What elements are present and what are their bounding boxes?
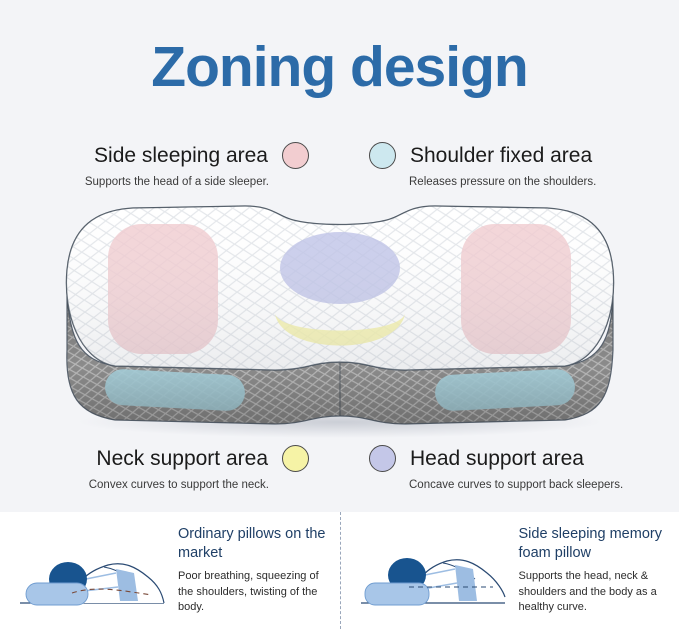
pillow-top-surface bbox=[45, 200, 635, 380]
legend-title-side-sleeping-area: Side sleeping area bbox=[94, 144, 268, 168]
legend-row-top: Side sleeping area Supports the head of … bbox=[0, 142, 679, 188]
legend-item-side-sleeping-area: Side sleeping area Supports the head of … bbox=[0, 142, 339, 188]
comparison-title-ordinary: Ordinary pillows on the market bbox=[178, 525, 332, 563]
comparison-panel: Ordinary pillows on the market Poor brea… bbox=[0, 512, 679, 629]
legend-subtitle-neck-support-area: Convex curves to support the neck. bbox=[0, 479, 309, 491]
legend-subtitle-head-support-area: Concave curves to support back sleepers. bbox=[369, 479, 678, 491]
circle-swatch-purple-icon bbox=[369, 445, 396, 472]
circle-swatch-pink-icon bbox=[282, 142, 309, 169]
legend-item-shoulder-fixed-area: Shoulder fixed area Releases pressure on… bbox=[339, 142, 678, 188]
legend-title-neck-support-area: Neck support area bbox=[96, 447, 268, 471]
legend-item-head-support-area: Head support area Concave curves to supp… bbox=[339, 445, 678, 491]
legend-head: Neck support area bbox=[0, 445, 309, 472]
legend-title-head-support-area: Head support area bbox=[410, 447, 584, 471]
pillow-illustration bbox=[45, 200, 635, 440]
legend-head: Head support area bbox=[369, 445, 678, 472]
memory-foam-pillow-sleeper-illustration bbox=[353, 521, 513, 621]
comparison-memory-foam-pillow: Side sleeping memory foam pillow Support… bbox=[340, 512, 679, 629]
legend-row-bottom: Neck support area Convex curves to suppo… bbox=[0, 445, 679, 491]
legend-subtitle-side-sleeping-area: Supports the head of a side sleeper. bbox=[0, 176, 309, 188]
comparison-text: Ordinary pillows on the market Poor brea… bbox=[172, 525, 340, 616]
comparison-text: Side sleeping memory foam pillow Support… bbox=[513, 525, 679, 616]
comparison-subtitle-memory-foam: Supports the head, neck & shoulders and … bbox=[519, 569, 672, 616]
page-title: Zoning design bbox=[0, 38, 679, 98]
legend-title-shoulder-fixed-area: Shoulder fixed area bbox=[410, 144, 592, 168]
ordinary-pillow-sleeper-illustration bbox=[12, 521, 172, 621]
pillow-shape bbox=[365, 583, 429, 605]
comparison-title-memory-foam: Side sleeping memory foam pillow bbox=[519, 525, 672, 563]
legend-subtitle-shoulder-fixed-area: Releases pressure on the shoulders. bbox=[369, 176, 678, 188]
circle-swatch-yellow-icon bbox=[282, 445, 309, 472]
legend-head: Side sleeping area bbox=[0, 142, 309, 169]
legend-head: Shoulder fixed area bbox=[369, 142, 678, 169]
legend-item-neck-support-area: Neck support area Convex curves to suppo… bbox=[0, 445, 339, 491]
comparison-ordinary-pillow: Ordinary pillows on the market Poor brea… bbox=[0, 512, 340, 629]
comparison-subtitle-ordinary: Poor breathing, squeezing of the shoulde… bbox=[178, 569, 332, 616]
circle-swatch-blue-icon bbox=[369, 142, 396, 169]
pillow-shape bbox=[26, 583, 88, 605]
